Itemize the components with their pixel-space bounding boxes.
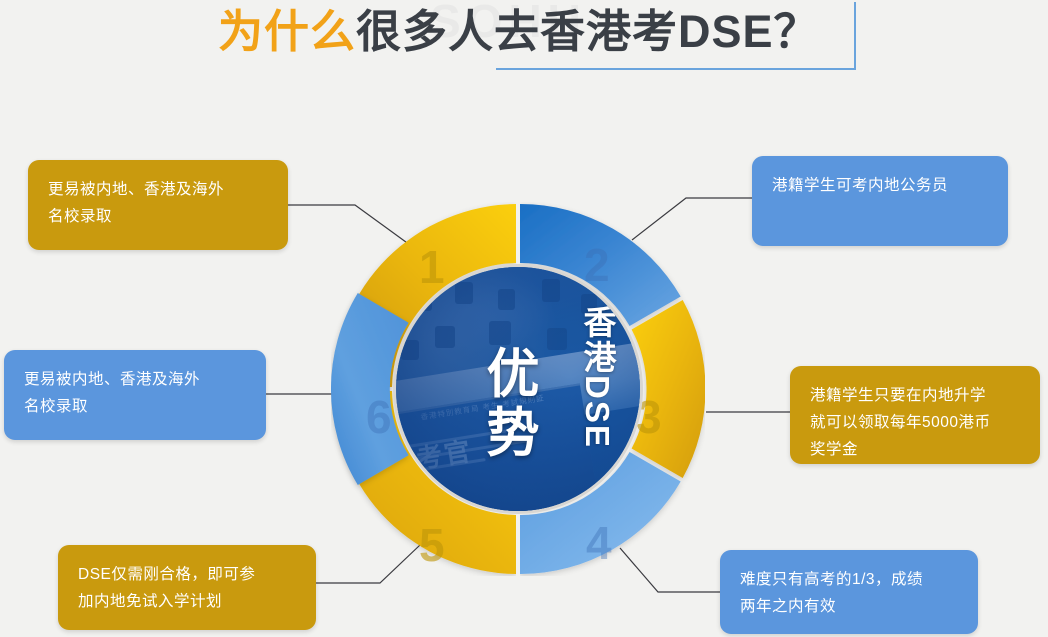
callout-box-5[interactable]: DSE仅需刚合格，即可参 加内地免试入学计划 xyxy=(58,545,316,630)
callout-box-2[interactable]: 港籍学生可考内地公务员 xyxy=(752,156,1008,246)
hub-vertical-label: 香港DSE xyxy=(576,305,616,449)
callout-box-4[interactable]: 难度只有高考的1/3，成绩 两年之内有效 xyxy=(720,550,978,634)
callout-box-3[interactable]: 港籍学生只要在内地升学 就可以领取每年5000港币 奖学金 xyxy=(790,366,1040,464)
wheel-center-hub: 香港特別教育局 考生 考試規則証 考官 香港DSE 优势 xyxy=(393,264,643,514)
callout-box-6[interactable]: 更易被内地、香港及海外 名校录取 xyxy=(4,350,266,440)
callout-5-line-2: 加内地免试入学计划 xyxy=(78,588,298,615)
callout-3-line-1: 港籍学生只要在内地升学 xyxy=(810,382,1022,409)
callout-4-line-1: 难度只有高考的1/3，成绩 xyxy=(740,566,960,593)
callout-6-line-2: 名校录取 xyxy=(24,393,248,420)
title-bracket-bottom xyxy=(496,68,856,70)
callout-1-line-2: 名校录取 xyxy=(48,203,270,230)
page-title: 为什么很多人去香港考DSE？ xyxy=(196,2,856,74)
page-title-text: 为什么很多人去香港考DSE？ xyxy=(218,4,820,60)
infographic-canvas: SOHU 为什么很多人去香港考DSE？ 更易被内地、香港及海外 名校录取 更易被… xyxy=(0,0,1048,637)
callout-4-line-2: 两年之内有效 xyxy=(740,593,960,620)
callout-1-line-1: 更易被内地、香港及海外 xyxy=(48,176,270,203)
callout-2-line-1: 港籍学生可考内地公务员 xyxy=(772,172,990,199)
donut-wheel: 1 2 3 4 5 6 xyxy=(331,202,705,576)
callout-3-line-3: 奖学金 xyxy=(810,436,1022,463)
callout-6-line-1: 更易被内地、香港及海外 xyxy=(24,366,248,393)
callout-3-line-2: 就可以领取每年5000港币 xyxy=(810,409,1022,436)
title-bracket-right xyxy=(854,2,856,70)
page-title-highlight: 为什么 xyxy=(218,6,356,57)
page-title-rest: 很多人去香港考DSE？ xyxy=(356,6,820,57)
hub-main-label: 优势 xyxy=(482,345,544,463)
callout-5-line-1: DSE仅需刚合格，即可参 xyxy=(78,561,298,588)
callout-box-1[interactable]: 更易被内地、香港及海外 名校录取 xyxy=(28,160,288,250)
